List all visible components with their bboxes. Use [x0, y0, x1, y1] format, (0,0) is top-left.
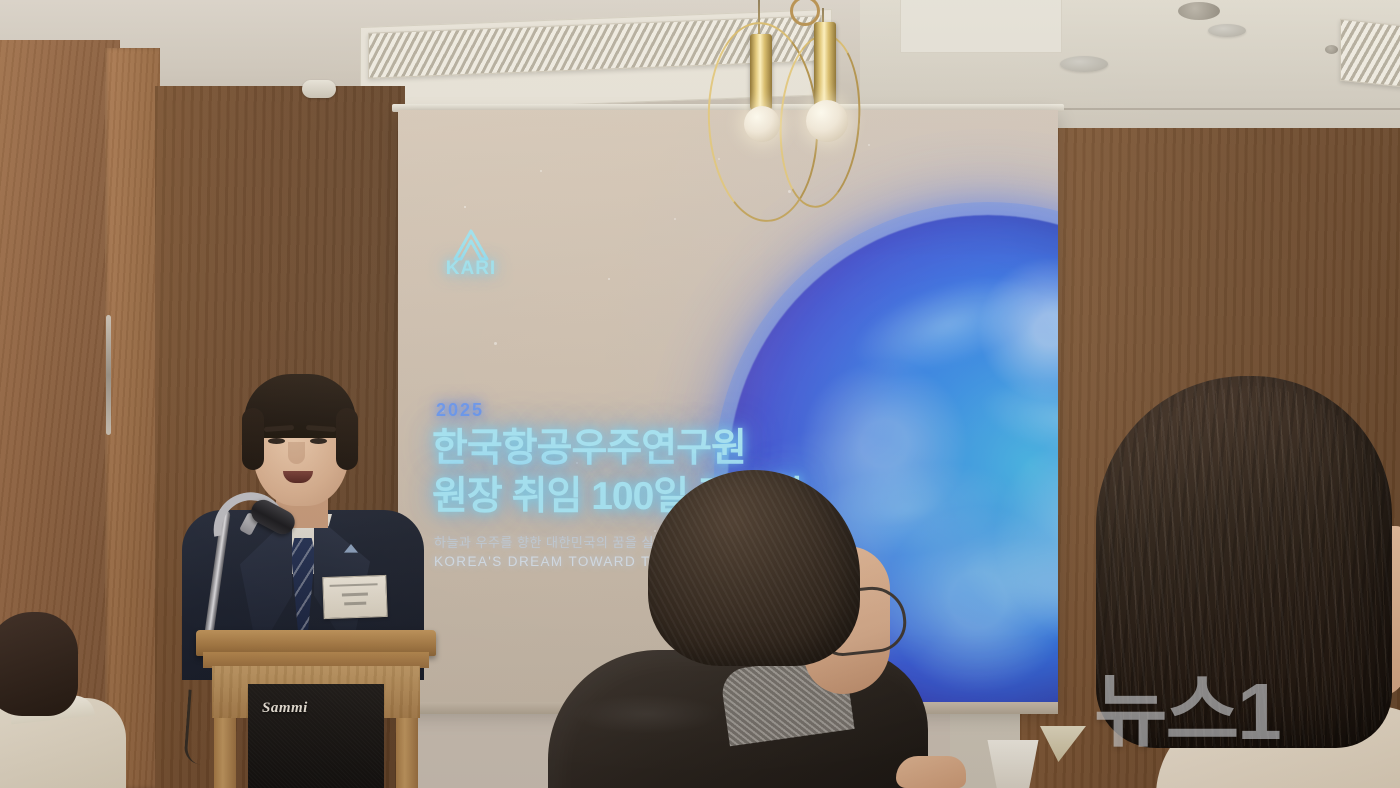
slide-title-line1: 한국항공우주연구원: [432, 425, 1032, 473]
downlight-icon: [1060, 56, 1108, 72]
audience-woman-foreground: [1060, 376, 1400, 788]
slide-year: 2025: [436, 400, 484, 421]
presenter-hair-side: [242, 408, 264, 470]
air-vent-icon: [1340, 19, 1400, 88]
audience-left-hair: [0, 612, 78, 716]
audience-man-shoulder-highlight: [572, 694, 722, 734]
audience-man-hair: [648, 470, 860, 666]
kari-logo: KARI: [434, 228, 508, 280]
sprinkler-icon: [1178, 2, 1220, 20]
photo-scene: KARI 2025 한국항공우주연구원 원장 취임 100일 간담회 하늘과 우…: [0, 0, 1400, 788]
presenter-eye: [310, 438, 327, 444]
door-handle[interactable]: [106, 315, 111, 435]
sprinkler-icon: [1325, 45, 1338, 54]
audience-man-foreground: [548, 470, 948, 788]
podium-leg: [396, 718, 418, 788]
audience-person-left: [0, 612, 116, 788]
kari-logo-text: KARI: [434, 258, 508, 280]
podium-brand-label: Sammi: [262, 700, 308, 717]
presenter-nose: [288, 442, 305, 464]
pendant-bulb-icon: [744, 106, 780, 142]
podium-leg: [214, 718, 236, 788]
pendant-light-fixture: [750, 34, 772, 110]
pendant-light-fixture: [814, 22, 836, 106]
kari-mountain-icon: [434, 228, 508, 262]
ceiling-sensor-icon: [302, 80, 336, 98]
audience-man-hand: [896, 756, 966, 788]
ceiling-access-panel: [900, 0, 1062, 53]
presenter-name-badge: [322, 575, 387, 619]
presenter-hair-side: [336, 408, 358, 470]
downlight-icon: [1208, 24, 1246, 37]
pendant-bulb-icon: [806, 100, 848, 142]
presenter-eye: [268, 438, 285, 444]
audience-woman-hair: [1096, 376, 1392, 748]
